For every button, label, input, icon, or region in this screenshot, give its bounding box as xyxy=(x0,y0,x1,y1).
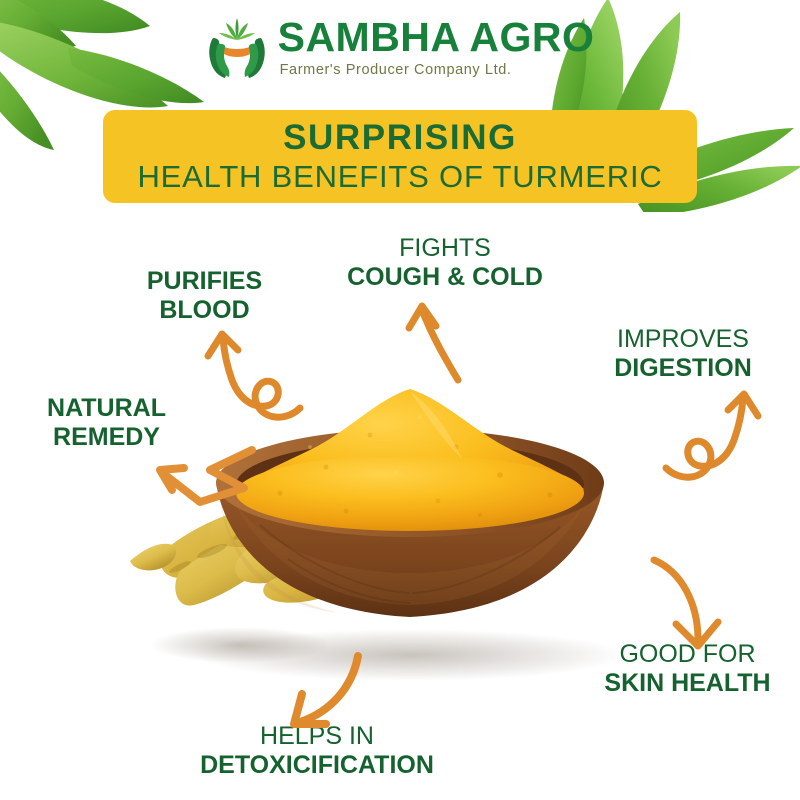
benefit-line1: NATURAL xyxy=(14,394,199,423)
benefit-line1: IMPROVES xyxy=(588,325,778,354)
benefit-line1: PURIFIES xyxy=(112,267,297,296)
benefit-label-skin-health: GOOD FOR SKIN HEALTH xyxy=(585,640,790,698)
benefit-line2: BLOOD xyxy=(112,296,297,325)
benefit-line1: HELPS IN xyxy=(172,722,462,751)
benefit-label-detoxicification: HELPS IN DETOXICIFICATION xyxy=(172,722,462,780)
hands-holding-leaves-icon xyxy=(206,14,268,80)
benefit-line2: DETOXICIFICATION xyxy=(172,751,462,780)
benefit-line2: SKIN HEALTH xyxy=(585,669,790,698)
benefit-line1: FIGHTS xyxy=(335,234,555,263)
banner-headline: SURPRISING xyxy=(283,118,517,158)
benefit-line2: COUGH & COLD xyxy=(335,263,555,292)
benefit-line2: DIGESTION xyxy=(588,354,778,383)
turmeric-powder-bowl-image xyxy=(120,355,660,685)
title-banner: SURPRISING HEALTH BENEFITS OF TURMERIC xyxy=(103,110,697,203)
benefit-label-cough: FIGHTS COUGH & COLD xyxy=(335,234,555,292)
brand-logo: SAMBHA AGRO Farmer's Producer Company Lt… xyxy=(0,14,800,80)
arrow-curly-up-right-icon xyxy=(654,384,766,486)
banner-subhead: HEALTH BENEFITS OF TURMERIC xyxy=(137,159,662,195)
benefit-label-digestion: IMPROVES DIGESTION xyxy=(588,325,778,383)
benefit-label-purify: PURIFIES BLOOD xyxy=(112,267,297,325)
benefit-line2: REMEDY xyxy=(14,423,199,452)
brand-tagline: Farmer's Producer Company Ltd. xyxy=(280,63,595,78)
benefit-label-natural-remedy: NATURAL REMEDY xyxy=(14,394,199,452)
turmeric-benefits-infographic: SAMBHA AGRO Farmer's Producer Company Lt… xyxy=(0,0,800,800)
benefit-line1: GOOD FOR xyxy=(585,640,790,669)
brand-name: SAMBHA AGRO xyxy=(278,17,595,58)
